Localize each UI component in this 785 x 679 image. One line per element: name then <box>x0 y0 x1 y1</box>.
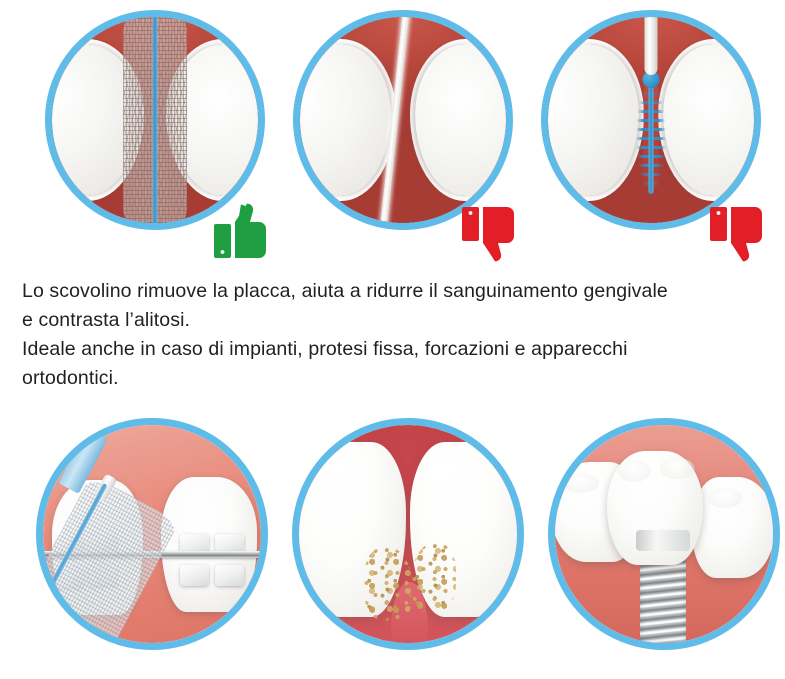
plaque-deposit <box>412 543 456 613</box>
description-line-3: Ideale anche in caso di impianti, protes… <box>22 335 782 364</box>
enamel-highlight <box>425 456 486 487</box>
illustration-circle-interdental-brush <box>45 10 265 230</box>
illustration-circle-dental-floss <box>293 10 513 230</box>
illustration-circle-dental-implant <box>548 418 780 650</box>
circle-content <box>548 17 754 223</box>
thumbs-up-icon <box>213 202 269 260</box>
illustration-circle-rubber-pick <box>541 10 761 230</box>
crown-cusp-highlight <box>564 473 599 493</box>
circle-content <box>52 17 258 223</box>
circle-content <box>299 425 517 643</box>
crown-cusp-highlight <box>708 488 743 508</box>
rubber-pick-stem <box>649 81 654 194</box>
description-paragraph: Lo scovolino rimuove la placca, aiuta a … <box>22 277 782 393</box>
crown-cusp-highlight <box>618 460 651 482</box>
plaque-deposit <box>364 547 412 621</box>
description-line-1: Lo scovolino rimuove la placca, aiuta a … <box>22 277 782 306</box>
circle-content <box>555 425 773 643</box>
thumbs-down-icon <box>709 205 765 263</box>
description-line-2: e contrasta l’alitosi. <box>22 306 782 335</box>
bracket <box>180 565 208 587</box>
rubber-pick-handle <box>645 17 658 75</box>
thumbs-down-icon <box>461 205 517 263</box>
illustration-circle-plaque-buildup <box>292 418 524 650</box>
circle-content <box>300 17 506 223</box>
crown-cusp-highlight <box>660 458 695 480</box>
illustration-circle-orthodontic-braces <box>36 418 268 650</box>
circle-content <box>43 425 261 643</box>
implant-abutment <box>636 530 691 552</box>
description-line-4: ortodontici. <box>22 364 782 393</box>
brush-wire-core <box>153 17 158 223</box>
bracket <box>215 565 243 587</box>
